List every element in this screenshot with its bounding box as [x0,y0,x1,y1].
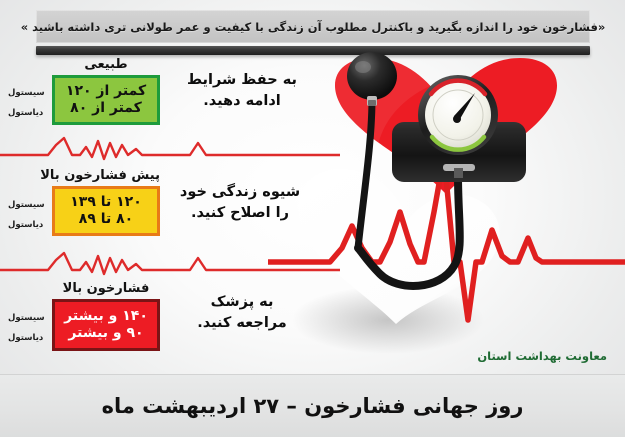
ecg-divider-1 [0,133,340,171]
category-prehypertension-value-box: ۱۲۰ تا ۱۳۹ ۸۰ تا ۸۹ [52,186,160,236]
normal-systolic-value: کمتر از ۱۲۰ [66,83,146,101]
sphygmomanometer-gauge [418,75,498,155]
top-slogan-banner: «فشارخون خود را اندازه بگیرید و باکنترل … [36,10,590,43]
prehypertension-systolic-label: سیستول [8,200,45,210]
bottom-title-text: روز جهانی فشارخون – ۲۷ اردیبهشت ماه [102,394,524,418]
normal-systolic-label: سیستول [8,88,45,98]
advice-normal: به حفظ شرایط ادامه دهید. [178,70,306,112]
category-normal-title: طبیعی [52,57,160,72]
category-hypertension-value-box: ۱۴۰ و بیشتر ۹۰ و بیشتر [52,299,160,351]
blood-pressure-infographic: «فشارخون خود را اندازه بگیرید و باکنترل … [0,0,625,437]
ecg-divider-2 [0,248,340,286]
organization-credit: معاونت بهداشت استان [477,349,607,363]
normal-diastolic-value: کمتر از ۸۰ [70,100,142,118]
normal-side-labels: سیستول دیاستول [8,80,45,126]
prehypertension-side-labels: سیستول دیاستول [8,192,45,238]
category-prehypertension-title: پیش فشارخون بالا [52,168,160,183]
category-normal-value-box: کمتر از ۱۲۰ کمتر از ۸۰ [52,75,160,125]
category-normal: طبیعی کمتر از ۱۲۰ کمتر از ۸۰ [52,57,160,125]
bottom-title-banner: روز جهانی فشارخون – ۲۷ اردیبهشت ماه [0,374,625,437]
hypertension-side-labels: سیستول دیاستول [8,305,45,351]
artwork-illustration [268,52,625,370]
category-hypertension: فشارخون بالا ۱۴۰ و بیشتر ۹۰ و بیشتر [52,281,160,351]
category-prehypertension: پیش فشارخون بالا ۱۲۰ تا ۱۳۹ ۸۰ تا ۸۹ [52,168,160,236]
normal-diastolic-label: دیاستول [8,108,45,118]
hypertension-systolic-label: سیستول [8,313,45,323]
advice-hypertension: به پزشک مراجعه کنید. [176,292,308,334]
prehypertension-diastolic-label: دیاستول [8,220,45,230]
hypertension-diastolic-label: دیاستول [8,333,45,343]
hypertension-diastolic-value: ۹۰ و بیشتر [68,325,143,343]
hypertension-systolic-value: ۱۴۰ و بیشتر [64,308,148,326]
prehypertension-diastolic-value: ۸۰ تا ۸۹ [79,211,133,229]
top-slogan-text: «فشارخون خود را اندازه بگیرید و باکنترل … [21,20,606,34]
category-hypertension-title: فشارخون بالا [52,281,160,296]
advice-prehypertension: شیوه زندگی خود را اصلاح کنید. [172,182,308,224]
prehypertension-systolic-value: ۱۲۰ تا ۱۳۹ [70,194,142,212]
